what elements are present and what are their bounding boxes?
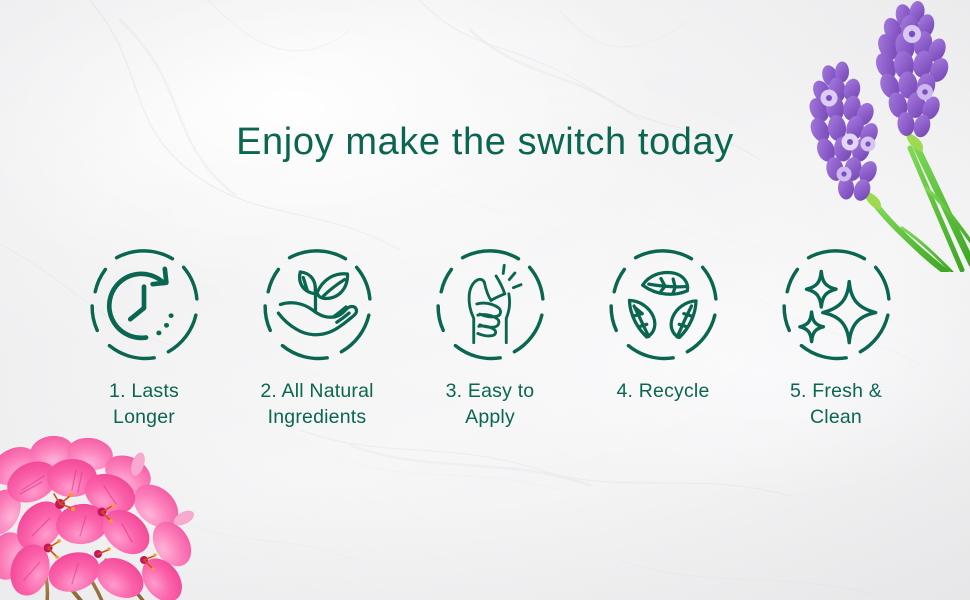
page-title: Enjoy make the switch today [0,122,970,164]
feature-label: 1. Lasts Longer [109,379,179,430]
feature-label: 3. Easy to Apply [446,379,535,430]
feature-item-all-natural-ingredients: 2. All Natural Ingredients [233,245,401,430]
feature-list: 1. Lasts Longer [60,245,920,430]
pink-geranium-decoration [0,420,221,600]
feature-item-lasts-longer: 1. Lasts Longer [60,245,228,430]
three-leaves-recycle-icon [602,245,724,367]
sparkles-icon [775,245,897,367]
feature-label: 2. All Natural Ingredients [260,379,373,430]
snapping-fingers-icon [429,245,551,367]
feature-item-recycle: 4. Recycle [579,245,747,405]
clock-arrow-icon [83,245,205,367]
feature-label: 5. Fresh & Clean [790,379,882,430]
feature-item-easy-to-apply: 3. Easy to Apply [406,245,574,430]
feature-item-fresh-and-clean: 5. Fresh & Clean [752,245,920,430]
feature-label: 4. Recycle [616,379,709,405]
promo-banner: Enjoy make the switch today [0,0,970,600]
sprout-in-hand-icon [256,245,378,367]
